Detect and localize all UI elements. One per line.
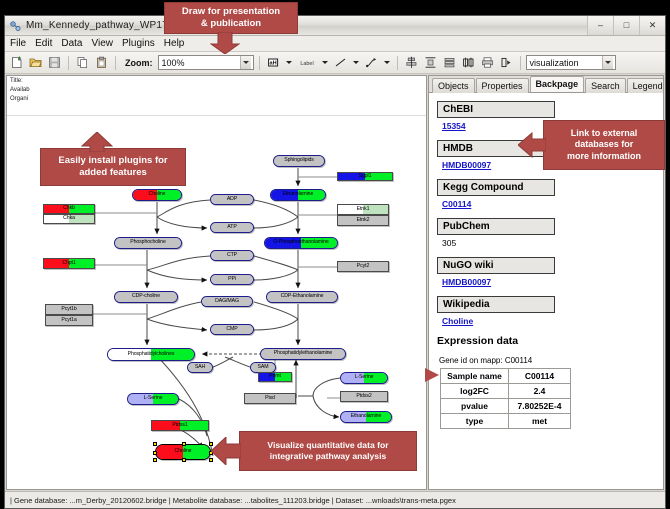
node-label: Ethanolamine — [351, 414, 382, 419]
label-icon[interactable]: Label — [296, 54, 318, 71]
visualization-combo[interactable]: visualization — [526, 55, 616, 70]
table-row: type met — [441, 414, 571, 429]
cell-value: 7.80252E-4 — [509, 399, 571, 414]
menu-item-data[interactable]: Data — [61, 38, 82, 49]
gene-node[interactable]: Etnk1 — [337, 204, 389, 215]
node-label: L-Serine — [355, 375, 374, 380]
cell-key: pvalue — [441, 399, 509, 414]
node-label: Pcyt2 — [357, 264, 369, 269]
print-icon[interactable] — [479, 54, 496, 71]
tab-properties[interactable]: Properties — [476, 78, 529, 93]
metabolite-node[interactable]: Phosphatidylethanolamine — [260, 348, 346, 360]
node-label: Pcyt1a — [61, 318, 76, 323]
callout-links-line2: databases for — [567, 139, 641, 150]
node-label: Ptdss1 — [172, 423, 187, 428]
toolbar-separator-1 — [68, 56, 69, 70]
callout-draw-line1: Draw for presentation — [182, 6, 280, 18]
open-icon[interactable] — [27, 54, 44, 71]
cell-key: type — [441, 414, 509, 429]
node-label: PPi — [228, 277, 236, 282]
metabolite-node[interactable]: L-Serine — [127, 393, 179, 405]
metabolite-node[interactable]: ADP — [210, 194, 254, 205]
selection-handle[interactable] — [153, 458, 157, 462]
line-dropdown-icon[interactable] — [351, 54, 361, 71]
node-label: ATP — [227, 225, 236, 230]
tab-objects[interactable]: Objects — [432, 78, 475, 93]
node-label: L-Serine — [144, 396, 163, 401]
callout-links: Link to external databases for more info… — [543, 120, 665, 170]
menu-item-edit[interactable]: Edit — [35, 38, 52, 49]
svg-text:aH: aH — [269, 61, 276, 67]
menu-bar: File Edit Data View Plugins Help — [5, 36, 665, 52]
tab-backpage[interactable]: Backpage — [530, 76, 585, 92]
menu-item-help[interactable]: Help — [164, 38, 185, 49]
node-label: Sgpl1 — [359, 174, 372, 179]
metabolite-node[interactable]: Choline — [132, 189, 182, 201]
metabolite-node[interactable]: O-Phosphoethanolamine — [264, 237, 338, 249]
copy-icon[interactable] — [74, 54, 91, 71]
section-header-nugo: NuGO wiki — [437, 257, 555, 274]
pathvisio-window: Mm_Kennedy_pathway_WP1771_45176.gpml – □… — [4, 15, 666, 509]
node-label: Etnk1 — [357, 207, 370, 212]
close-icon: ✕ — [649, 21, 657, 30]
node-label: Sphingolipids — [284, 158, 314, 163]
link-kegg[interactable]: C00114 — [442, 199, 655, 209]
node-label: Chpt1 — [62, 261, 75, 266]
metabolite-node[interactable]: Phosphatidylcholines — [107, 348, 195, 361]
minimize-button[interactable]: – — [587, 16, 613, 35]
node-label: Phosphatidylethanolamine — [274, 351, 332, 356]
callout-links-arrow-icon — [518, 131, 546, 164]
pathvisio-icon — [9, 20, 21, 32]
callout-draw-line2: & publication — [182, 18, 280, 30]
visualization-value: visualization — [530, 58, 579, 68]
gene-node[interactable]: Sgpl1 — [337, 172, 393, 181]
callout-plugins: Easily install plugins for added feature… — [40, 148, 186, 186]
callout-plugins-line2: added features — [58, 167, 167, 179]
interaction-icon[interactable] — [363, 54, 380, 71]
node-label: CTP — [227, 253, 237, 258]
node-label: SAH — [195, 365, 205, 370]
minimize-icon: – — [598, 21, 603, 30]
node-label: DAG/MAG — [215, 299, 239, 304]
gene-node[interactable]: Pisd — [244, 393, 296, 404]
side-panel-tabs: Objects Properties Backpage Search Legen… — [429, 76, 663, 93]
expression-data-title: Expression data — [437, 335, 655, 347]
node-label: Pcyt1b — [61, 307, 76, 312]
gene-node[interactable]: Ptdss1 — [151, 420, 209, 431]
maximize-button[interactable]: □ — [613, 16, 639, 35]
node-label: CDP-Ethanolamine — [281, 294, 324, 299]
gene-node[interactable]: Etnk2 — [337, 215, 389, 226]
cell-value: 2.4 — [509, 384, 571, 399]
cell-value: C00114 — [509, 369, 571, 384]
link-wikipedia[interactable]: Choline — [442, 316, 655, 326]
node-label: Phosphocholine — [130, 240, 166, 245]
zoom-value: 100% — [162, 58, 185, 68]
maximize-icon: □ — [624, 21, 629, 30]
table-row: Sample name C00114 — [441, 369, 571, 384]
title-bar: Mm_Kennedy_pathway_WP1771_45176.gpml – □… — [5, 16, 665, 36]
menu-item-plugins[interactable]: Plugins — [122, 38, 155, 49]
distribute-icon[interactable] — [422, 54, 439, 71]
selection-handle[interactable] — [182, 458, 186, 462]
svg-text:Label: Label — [300, 61, 313, 67]
toolbar-separator-4 — [397, 56, 398, 70]
callout-links-arrow2-icon — [425, 368, 439, 387]
window-buttons: – □ ✕ — [587, 16, 665, 36]
node-label: Phosphatidylcholines — [128, 352, 175, 357]
save-icon[interactable] — [46, 54, 63, 71]
chevron-down-icon[interactable] — [240, 56, 251, 69]
line-icon[interactable] — [332, 54, 349, 71]
gene-node[interactable]: Pemt — [258, 372, 292, 382]
node-label: Chkb — [63, 206, 75, 211]
metabolite-node[interactable]: Ethanolamine — [270, 189, 326, 201]
selection-handle[interactable] — [153, 451, 157, 455]
node-label: CDP-choline — [132, 294, 160, 299]
cell-key: Sample name — [441, 369, 509, 384]
metabolite-node[interactable]: L-Serine — [340, 372, 388, 384]
gene-node[interactable]: Pcyt2 — [337, 261, 389, 272]
node-label: Pisd — [265, 396, 275, 401]
section-header-pubchem: PubChem — [437, 218, 555, 235]
link-nugo[interactable]: HMDB00097 — [442, 277, 655, 287]
gene-node[interactable]: Chpt1 — [43, 258, 95, 269]
metabolite-node[interactable]: Choline — [155, 444, 211, 460]
expression-table: Sample name C00114 log2FC 2.4 pvalue 7.8… — [440, 368, 571, 429]
new-icon[interactable] — [8, 54, 25, 71]
table-row: log2FC 2.4 — [441, 384, 571, 399]
datanode-icon[interactable]: aH — [265, 54, 282, 71]
node-label: Choline — [175, 449, 192, 454]
toolbar: Zoom: 100% aH Label — [5, 52, 665, 74]
node-label: O-Phosphoethanolamine — [273, 240, 328, 245]
node-label: Chka — [63, 216, 75, 221]
selection-handle[interactable] — [182, 442, 186, 446]
callout-draw: Draw for presentation & publication — [164, 2, 298, 34]
callout-links-line3: more information — [567, 151, 641, 162]
metabolite-node[interactable]: CTP — [210, 250, 254, 261]
close-button[interactable]: ✕ — [639, 16, 665, 35]
node-label: Ptdss2 — [356, 394, 371, 399]
status-bar: | Gene database: ...m_Derby_20120602.bri… — [5, 491, 665, 508]
gene-node[interactable]: Chkb — [43, 204, 95, 214]
node-label: CMP — [226, 327, 237, 332]
node-label: Choline — [149, 192, 166, 197]
toolbar-separator-2 — [115, 56, 116, 70]
node-label: Etnk2 — [357, 218, 370, 223]
callout-plugins-arrow-icon — [81, 132, 113, 157]
node-label: Ethanolamine — [283, 192, 314, 197]
table-row: pvalue 7.80252E-4 — [441, 399, 571, 414]
callout-links-line1: Link to external — [567, 128, 641, 139]
callout-draw-arrow-icon — [210, 32, 240, 59]
gene-id-line: Gene id on mapp: C00114 — [439, 356, 655, 365]
metabolite-node[interactable]: SAH — [187, 362, 213, 373]
node-label: SAM — [258, 365, 269, 370]
gene-node[interactable]: Pcyt1b — [45, 304, 93, 315]
label-dropdown-icon[interactable] — [320, 54, 330, 71]
cell-value: met — [509, 414, 571, 429]
stack-icon[interactable] — [441, 54, 458, 71]
layer-icon[interactable] — [498, 54, 515, 71]
callout-visualize-line2: integrative pathway analysis — [267, 451, 388, 462]
value-pubchem: 305 — [442, 238, 655, 248]
cell-key: log2FC — [441, 384, 509, 399]
gene-node[interactable]: Pcyt1a — [45, 315, 93, 326]
metabolite-node[interactable]: DAG/MAG — [201, 296, 253, 307]
datanode-dropdown-icon[interactable] — [284, 54, 294, 71]
tab-search[interactable]: Search — [585, 78, 626, 93]
metabolite-node[interactable]: CMP — [210, 324, 254, 335]
status-bar-text: | Gene database: ...m_Derby_20120602.bri… — [10, 496, 456, 505]
callout-visualize: Visualize quantitative data for integrat… — [239, 431, 417, 471]
callout-visualize-line1: Visualize quantitative data for — [267, 440, 388, 451]
toolbar-separator-3 — [259, 56, 260, 70]
metabolite-node[interactable]: Ethanolamine — [340, 411, 392, 423]
metabolite-node[interactable]: CDP-Ethanolamine — [266, 291, 338, 303]
section-header-kegg: Kegg Compound — [437, 179, 555, 196]
paste-icon[interactable] — [93, 54, 110, 71]
gene-node[interactable]: Ptdss2 — [340, 391, 388, 402]
metabolite-node[interactable]: ATP — [210, 222, 254, 233]
node-label: ADP — [227, 197, 237, 202]
menu-item-file[interactable]: File — [10, 38, 26, 49]
pathway-canvas[interactable]: Title: Availab Organi — [6, 75, 427, 490]
metabolite-node[interactable]: Sphingolipids — [273, 155, 325, 167]
selection-handle[interactable] — [153, 442, 157, 446]
node-label: Pemt — [269, 374, 281, 379]
tab-legend[interactable]: Legend — [627, 78, 664, 93]
visualization-chevron-down-icon[interactable] — [602, 56, 613, 69]
zoom-label: Zoom: — [125, 58, 153, 68]
callout-visualize-arrow-icon — [211, 437, 241, 470]
metabolite-node[interactable]: CDP-choline — [114, 291, 178, 303]
gene-node[interactable]: Chka — [43, 214, 95, 224]
toolbar-separator-5 — [520, 56, 521, 70]
group-icon[interactable] — [460, 54, 477, 71]
align-icon[interactable] — [403, 54, 420, 71]
metabolite-node[interactable]: Phosphocholine — [114, 237, 182, 249]
callout-plugins-line1: Easily install plugins for — [58, 155, 167, 167]
interaction-dropdown-icon[interactable] — [382, 54, 392, 71]
section-header-chebi: ChEBI — [437, 101, 555, 118]
menu-item-view[interactable]: View — [91, 38, 113, 49]
section-header-wikipedia: Wikipedia — [437, 296, 555, 313]
metabolite-node[interactable]: PPi — [210, 274, 254, 285]
